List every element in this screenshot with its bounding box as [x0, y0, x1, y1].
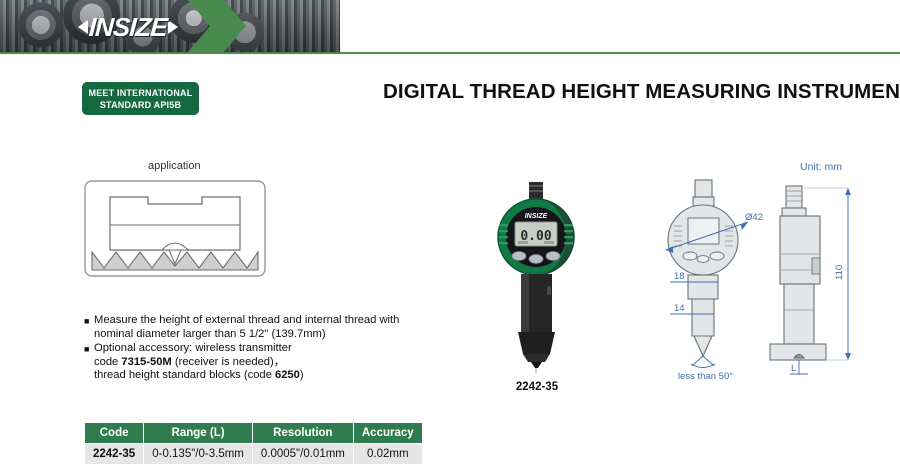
header-divider — [0, 52, 900, 54]
standard-block-code: 6250 — [275, 369, 300, 381]
insize-logo: INSIZE — [58, 12, 198, 42]
column-header-range: Range (L) — [144, 423, 253, 444]
feature-2-line-1: Optional accessory: wireless transmitter — [94, 342, 292, 354]
angle-note-label: less than 50° — [678, 371, 733, 382]
dimension-L-label: L — [791, 363, 796, 374]
feature-2-line-3-prefix: thread height standard blocks (code — [94, 369, 275, 381]
cell-accuracy: 0.02mm — [353, 444, 422, 465]
cell-range: 0-0.135"/0-3.5mm — [144, 444, 253, 465]
product-photo: INSIZE 0.00 — [487, 182, 587, 377]
application-label: application — [148, 160, 201, 172]
bullet-square-icon: ■ — [84, 314, 94, 341]
product-caption: 2242-35 — [487, 381, 587, 393]
bullet-square-icon: ■ — [84, 342, 94, 383]
feature-2-line-2-prefix: code — [94, 356, 121, 368]
dimension-14-label: 14 — [674, 303, 685, 314]
feature-text: Measure the height of external thread an… — [94, 314, 444, 341]
feature-text: Optional accessory: wireless transmitter… — [94, 342, 444, 383]
list-item: ■ Optional accessory: wireless transmitt… — [84, 342, 444, 383]
table-header-row: Code Range (L) Resolution Accuracy — [85, 423, 423, 444]
cell-code: 2242-35 — [85, 444, 144, 465]
feature-2-line-2-suffix: (receiver is needed)， — [172, 356, 285, 368]
accessory-code: 7315-50M — [121, 356, 171, 368]
feature-list: ■ Measure the height of external thread … — [84, 314, 444, 384]
feature-1-line-2: nominal diameter larger than 5 1/2" (139… — [94, 328, 326, 340]
dimension-110-label: 110 — [834, 265, 845, 280]
application-diagram — [84, 180, 266, 277]
right-arrow-icon — [168, 20, 178, 34]
specification-table: Code Range (L) Resolution Accuracy 2242-… — [84, 422, 423, 465]
column-header-accuracy: Accuracy — [353, 423, 422, 444]
feature-1-line-1: Measure the height of external thread an… — [94, 314, 399, 326]
side-view-drawing: 110 L — [760, 158, 900, 393]
dial-brand-label: INSIZE — [525, 213, 548, 220]
list-item: ■ Measure the height of external thread … — [84, 314, 444, 341]
dimension-18-label: 18 — [674, 271, 685, 282]
cell-resolution: 0.0005"/0.01mm — [252, 444, 353, 465]
standard-badge: MEET INTERNATIONAL STANDARD API5B — [82, 82, 199, 115]
badge-line-1: MEET INTERNATIONAL — [89, 88, 193, 98]
page-header: INSIZE — [0, 0, 900, 55]
column-header-code: Code — [85, 423, 144, 444]
brand-wordmark: INSIZE — [88, 12, 168, 43]
table-row: 2242-35 0-0.135"/0-3.5mm 0.0005"/0.01mm … — [85, 444, 423, 465]
column-header-resolution: Resolution — [252, 423, 353, 444]
badge-text: MEET INTERNATIONAL STANDARD API5B — [89, 87, 193, 111]
page-title: DIGITAL THREAD HEIGHT MEASURING INSTRUME… — [383, 80, 900, 104]
feature-2-line-3-suffix: ) — [300, 369, 304, 381]
badge-line-2: STANDARD API5B — [100, 100, 181, 110]
left-arrow-icon — [78, 20, 88, 34]
